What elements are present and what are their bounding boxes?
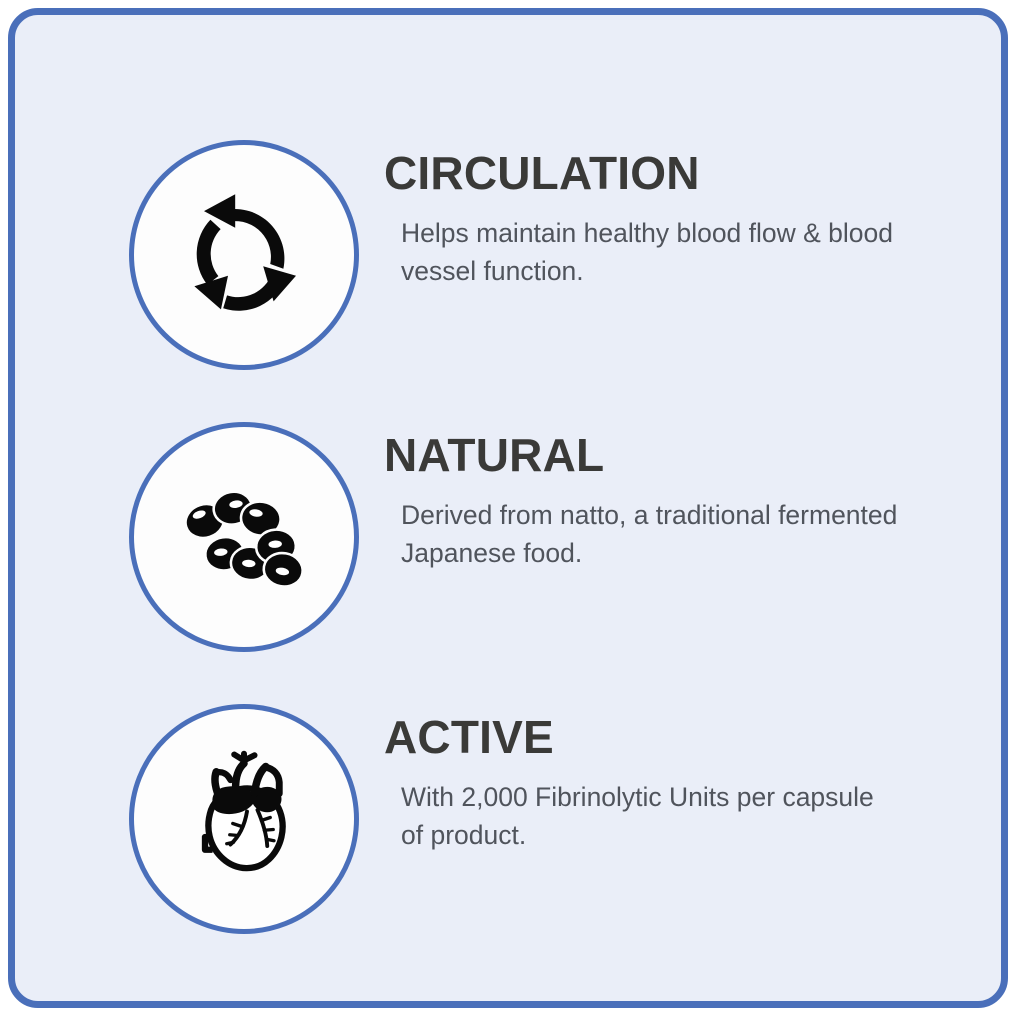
anatomical-heart-icon	[169, 744, 319, 894]
feature-heading: NATURAL	[384, 414, 944, 478]
circulation-arrows-icon	[164, 175, 324, 335]
feature-heading: CIRCULATION	[384, 132, 944, 196]
icon-badge-active	[129, 704, 359, 934]
feature-text-natural: NATURAL Derived from natto, a traditiona…	[384, 414, 944, 572]
icon-badge-circulation	[129, 140, 359, 370]
feature-row-active: ACTIVE With 2,000 Fibrinolytic Units per…	[15, 696, 1001, 928]
feature-text-active: ACTIVE With 2,000 Fibrinolytic Units per…	[384, 696, 944, 854]
feature-body: With 2,000 Fibrinolytic Units per capsul…	[384, 760, 901, 854]
feature-row-circulation: CIRCULATION Helps maintain healthy blood…	[15, 132, 1001, 364]
icon-badge-natural	[129, 422, 359, 652]
soybeans-icon	[164, 457, 324, 617]
feature-heading: ACTIVE	[384, 696, 944, 760]
feature-row-natural: NATURAL Derived from natto, a traditiona…	[15, 414, 1001, 646]
feature-body: Helps maintain healthy blood flow & bloo…	[384, 196, 901, 290]
infographic-card: CIRCULATION Helps maintain healthy blood…	[8, 8, 1008, 1008]
feature-body: Derived from natto, a traditional fermen…	[384, 478, 901, 572]
feature-text-circulation: CIRCULATION Helps maintain healthy blood…	[384, 132, 944, 290]
